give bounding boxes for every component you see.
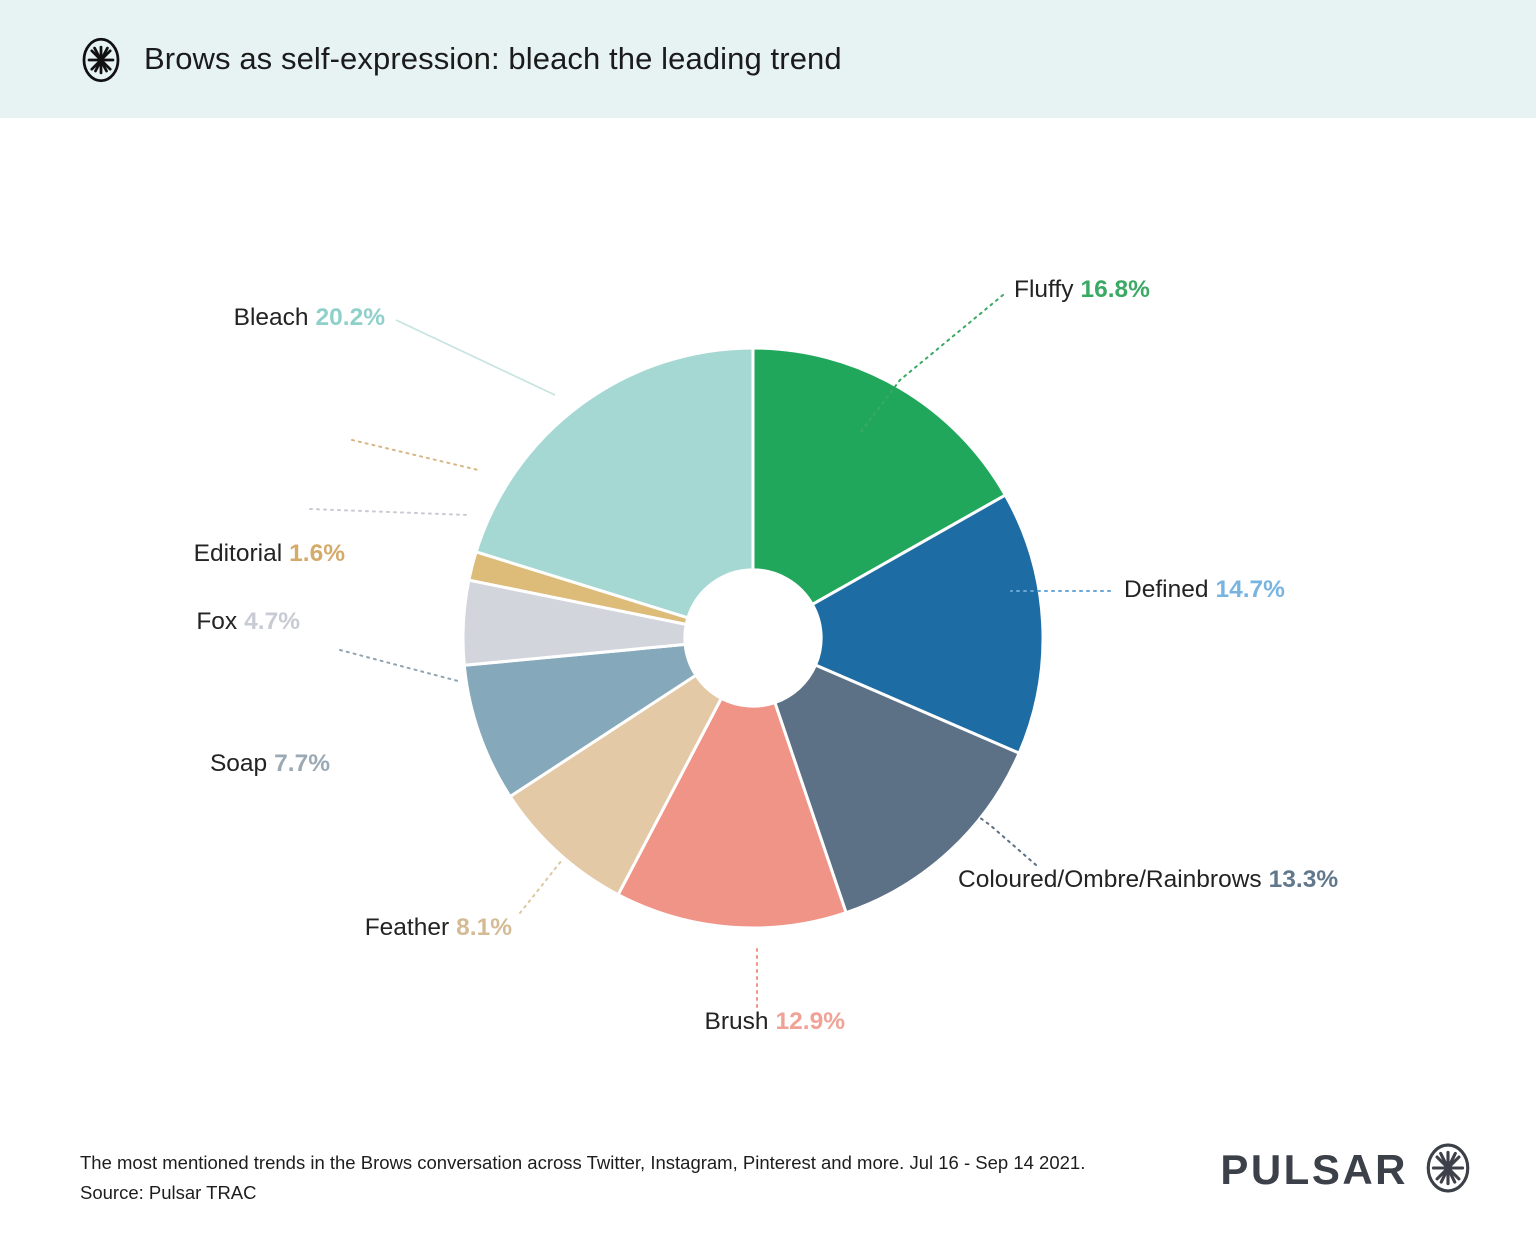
callout-soap: Soap7.7% [0,752,330,777]
footer-note-line2: Source: Pulsar TRAC [80,1178,1085,1208]
callout-brush-value: 12.9% [776,1008,845,1035]
footer-note-line1: The most mentioned trends in the Brows c… [80,1148,1085,1178]
donut-chart: Bleach20.2% Fluffy16.8% Defined14.7% Col… [0,118,1536,1118]
callout-feather-value: 8.1% [456,914,512,941]
callout-bleach-label: Bleach [234,304,309,331]
leader-line-fox [310,509,468,515]
callout-editorial-value: 1.6% [289,540,345,567]
callout-fluffy: Fluffy16.8% [1014,278,1150,303]
pie-slice-group [463,348,1043,928]
callout-fox-label: Fox [196,608,237,635]
callout-feather-label: Feather [365,914,449,941]
callout-fox-value: 4.7% [244,608,300,635]
callout-editorial: Editorial1.6% [0,542,345,567]
header-band: Brows as self-expression: bleach the lea… [0,0,1536,118]
callout-soap-label: Soap [210,750,267,777]
callout-bleach: Bleach20.2% [0,306,385,331]
callout-defined-label: Defined [1124,576,1208,603]
callout-defined-value: 14.7% [1215,576,1284,603]
callout-soap-value: 7.7% [274,750,330,777]
pulsar-logo: PULSAR [1220,1146,1474,1194]
callout-brush: Brush12.9% [400,1010,845,1035]
footer-note: The most mentioned trends in the Brows c… [80,1148,1085,1208]
callout-fluffy-label: Fluffy [1014,276,1073,303]
leader-line-bleach [396,320,555,395]
callout-editorial-label: Editorial [194,540,283,567]
callout-feather: Feather8.1% [100,916,512,941]
callout-brush-label: Brush [705,1008,769,1035]
callout-coloured: Coloured/Ombre/Rainbrows13.3% [958,868,1338,893]
pulsar-star-icon [1422,1142,1474,1194]
callout-coloured-value: 13.3% [1269,866,1338,893]
footer: The most mentioned trends in the Brows c… [0,1118,1536,1252]
callout-fluffy-value: 16.8% [1080,276,1149,303]
leader-line-feather [520,860,562,913]
callout-coloured-label: Coloured/Ombre/Rainbrows [958,866,1262,893]
pulsar-star-icon [78,37,124,83]
page-title: Brows as self-expression: bleach the lea… [144,41,842,77]
leader-line-soap [340,650,458,681]
callout-defined: Defined14.7% [1124,578,1285,603]
pulsar-wordmark: PULSAR [1220,1146,1408,1194]
callout-bleach-value: 20.2% [316,304,385,331]
callout-fox: Fox4.7% [0,610,300,635]
leader-line-editorial [352,440,478,470]
